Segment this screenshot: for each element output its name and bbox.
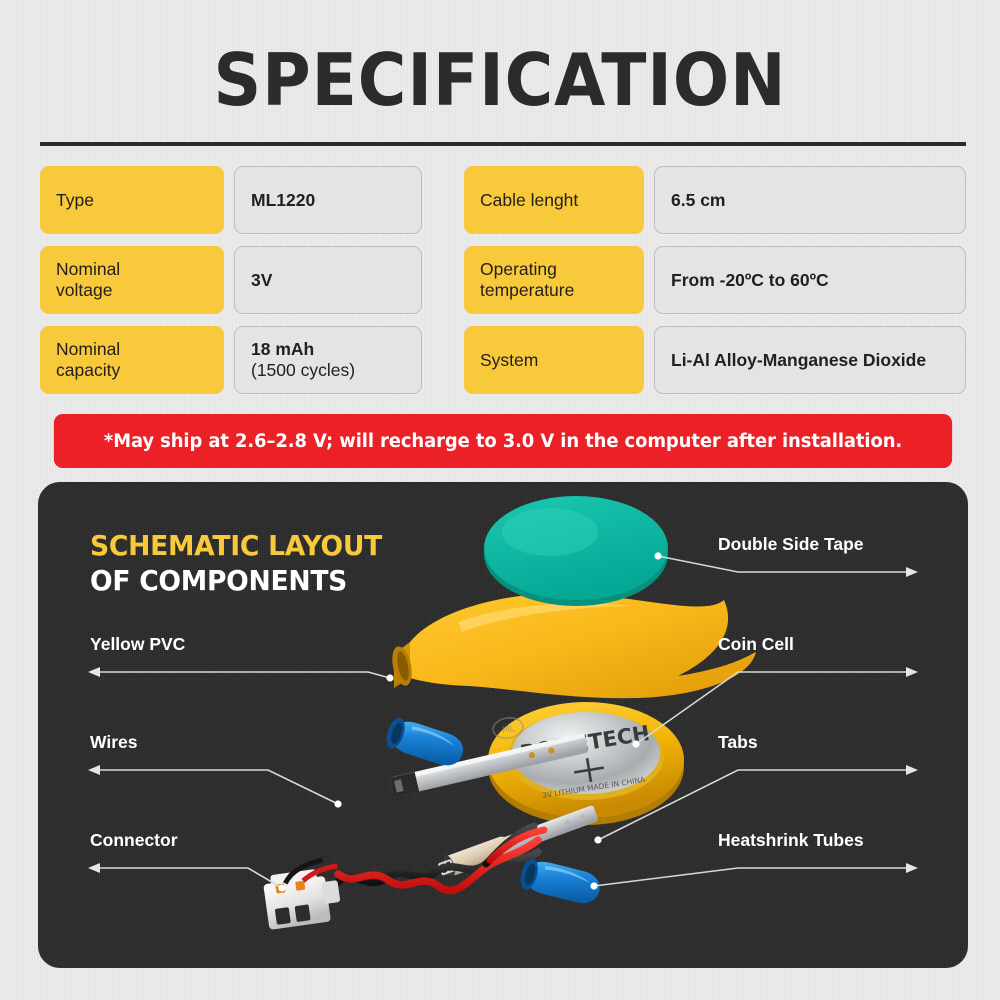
spec-key-line2: capacity xyxy=(56,360,120,380)
page-title: SPECIFICATION xyxy=(40,44,960,116)
spec-value-label: ML1220 xyxy=(251,190,315,211)
callout-label-heatshrink-tubes: Heatshrink Tubes xyxy=(718,830,864,851)
spec-key-cable-lenght: Cable lenght xyxy=(464,166,644,234)
wires-art xyxy=(338,826,544,891)
spec-key-label: Nominal voltage xyxy=(56,259,120,300)
spec-value-system: Li-Al Alloy-Manganese Dioxide xyxy=(654,326,966,394)
spec-key-line2: voltage xyxy=(56,280,112,300)
spec-key-nominal-capacity: Nominal capacity xyxy=(40,326,224,394)
yellow-pvc-art xyxy=(389,593,756,698)
callout-label-wires: Wires xyxy=(90,732,138,753)
warning-banner: *May ship at 2.6–2.8 V; will recharge to… xyxy=(54,414,952,468)
callout-label-double-side-tape: Double Side Tape xyxy=(718,534,864,555)
spec-value-type: ML1220 xyxy=(234,166,422,234)
spec-key-label: Cable lenght xyxy=(480,190,578,211)
spec-value-operating-temperature: From -20ºC to 60ºC xyxy=(654,246,966,314)
spec-key-line1: Nominal xyxy=(56,339,120,359)
spec-key-line1: Operating xyxy=(480,259,557,279)
spec-column-right: Cable lenght 6.5 cm Operating temperatur… xyxy=(464,166,966,394)
callout-label-tabs: Tabs xyxy=(718,732,758,753)
spec-value-label: From -20ºC to 60ºC xyxy=(671,270,829,291)
spec-key-system: System xyxy=(464,326,644,394)
callout-label-connector: Connector xyxy=(90,830,178,851)
heatshrink-tube-blue-lower-art xyxy=(518,857,603,907)
callout-label-coin-cell: Coin Cell xyxy=(718,634,794,655)
spec-value-cable-lenght: 6.5 cm xyxy=(654,166,966,234)
spec-key-line2: temperature xyxy=(480,280,574,300)
schematic-panel: SCHEMATIC LAYOUT OF COMPONENTS xyxy=(38,482,968,968)
spec-key-label: Nominal capacity xyxy=(56,339,120,380)
svg-text:ML: ML xyxy=(501,724,515,736)
spec-value-sub: (1500 cycles) xyxy=(251,360,355,381)
spec-key-label: System xyxy=(480,350,538,371)
spec-key-operating-temperature: Operating temperature xyxy=(464,246,644,314)
spec-value-nominal-voltage: 3V xyxy=(234,246,422,314)
callout-label-yellow-pvc: Yellow PVC xyxy=(90,634,185,655)
spec-key-label: Operating temperature xyxy=(480,259,574,300)
title-divider xyxy=(40,142,966,146)
spec-value-label: 18 mAh (1500 cycles) xyxy=(251,339,355,380)
spec-key-line1: Nominal xyxy=(56,259,120,279)
spec-value-main: 18 mAh xyxy=(251,339,314,359)
spec-value-label: Li-Al Alloy-Manganese Dioxide xyxy=(671,350,926,371)
spec-column-left: Type ML1220 Nominal voltage 3V Nominal c… xyxy=(40,166,422,394)
double-side-tape-art xyxy=(484,496,668,606)
spec-key-type: Type xyxy=(40,166,224,234)
connector-art xyxy=(261,858,345,930)
spec-key-label: Type xyxy=(56,190,94,211)
heatshrink-tube-blue-upper-art xyxy=(383,715,467,770)
warning-text: *May ship at 2.6–2.8 V; will recharge to… xyxy=(104,431,902,452)
spec-value-label: 6.5 cm xyxy=(671,190,725,211)
spec-value-nominal-capacity: 18 mAh (1500 cycles) xyxy=(234,326,422,394)
spec-key-nominal-voltage: Nominal voltage xyxy=(40,246,224,314)
specification-table: Type ML1220 Nominal voltage 3V Nominal c… xyxy=(40,166,966,394)
spec-value-label: 3V xyxy=(251,270,272,291)
